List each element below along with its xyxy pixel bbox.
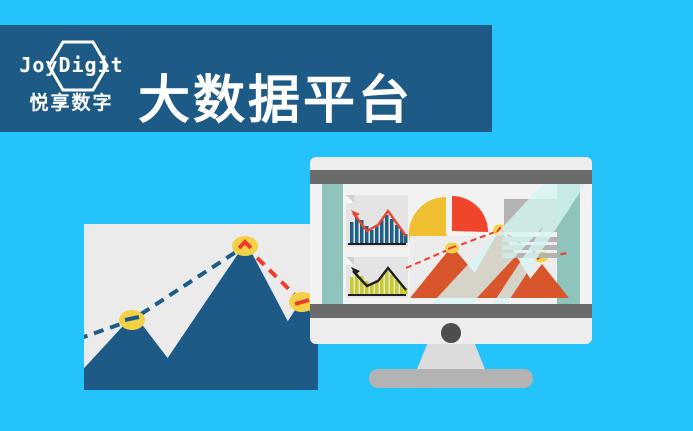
logo-wordmark: JoyDigit [14, 55, 129, 75]
logo-subtitle: 悦享数字 [14, 93, 129, 115]
blue-bar-chart-card [346, 195, 408, 247]
desktop-monitor [310, 157, 592, 388]
olive-bar-chart-card [346, 257, 408, 298]
page-title: 大数据平台 [138, 73, 413, 129]
data-point-marker [232, 236, 258, 256]
monitor-stand-base [369, 369, 533, 388]
header-banner: JoyDigit 悦享数字 大数据平台 [0, 25, 492, 132]
brand-logo: JoyDigit 悦享数字 [14, 37, 129, 122]
illustration-canvas: JoyDigit 悦享数字 大数据平台 [0, 0, 693, 431]
mountain-trend-graphic [84, 224, 318, 390]
monitor-bezel-top [310, 170, 592, 184]
mountain-trend-panel [84, 224, 318, 390]
monitor-bezel-bottom [310, 304, 592, 318]
power-button-icon [441, 323, 461, 343]
monitor-screen [310, 184, 592, 304]
dashboard-graphics [310, 184, 592, 304]
